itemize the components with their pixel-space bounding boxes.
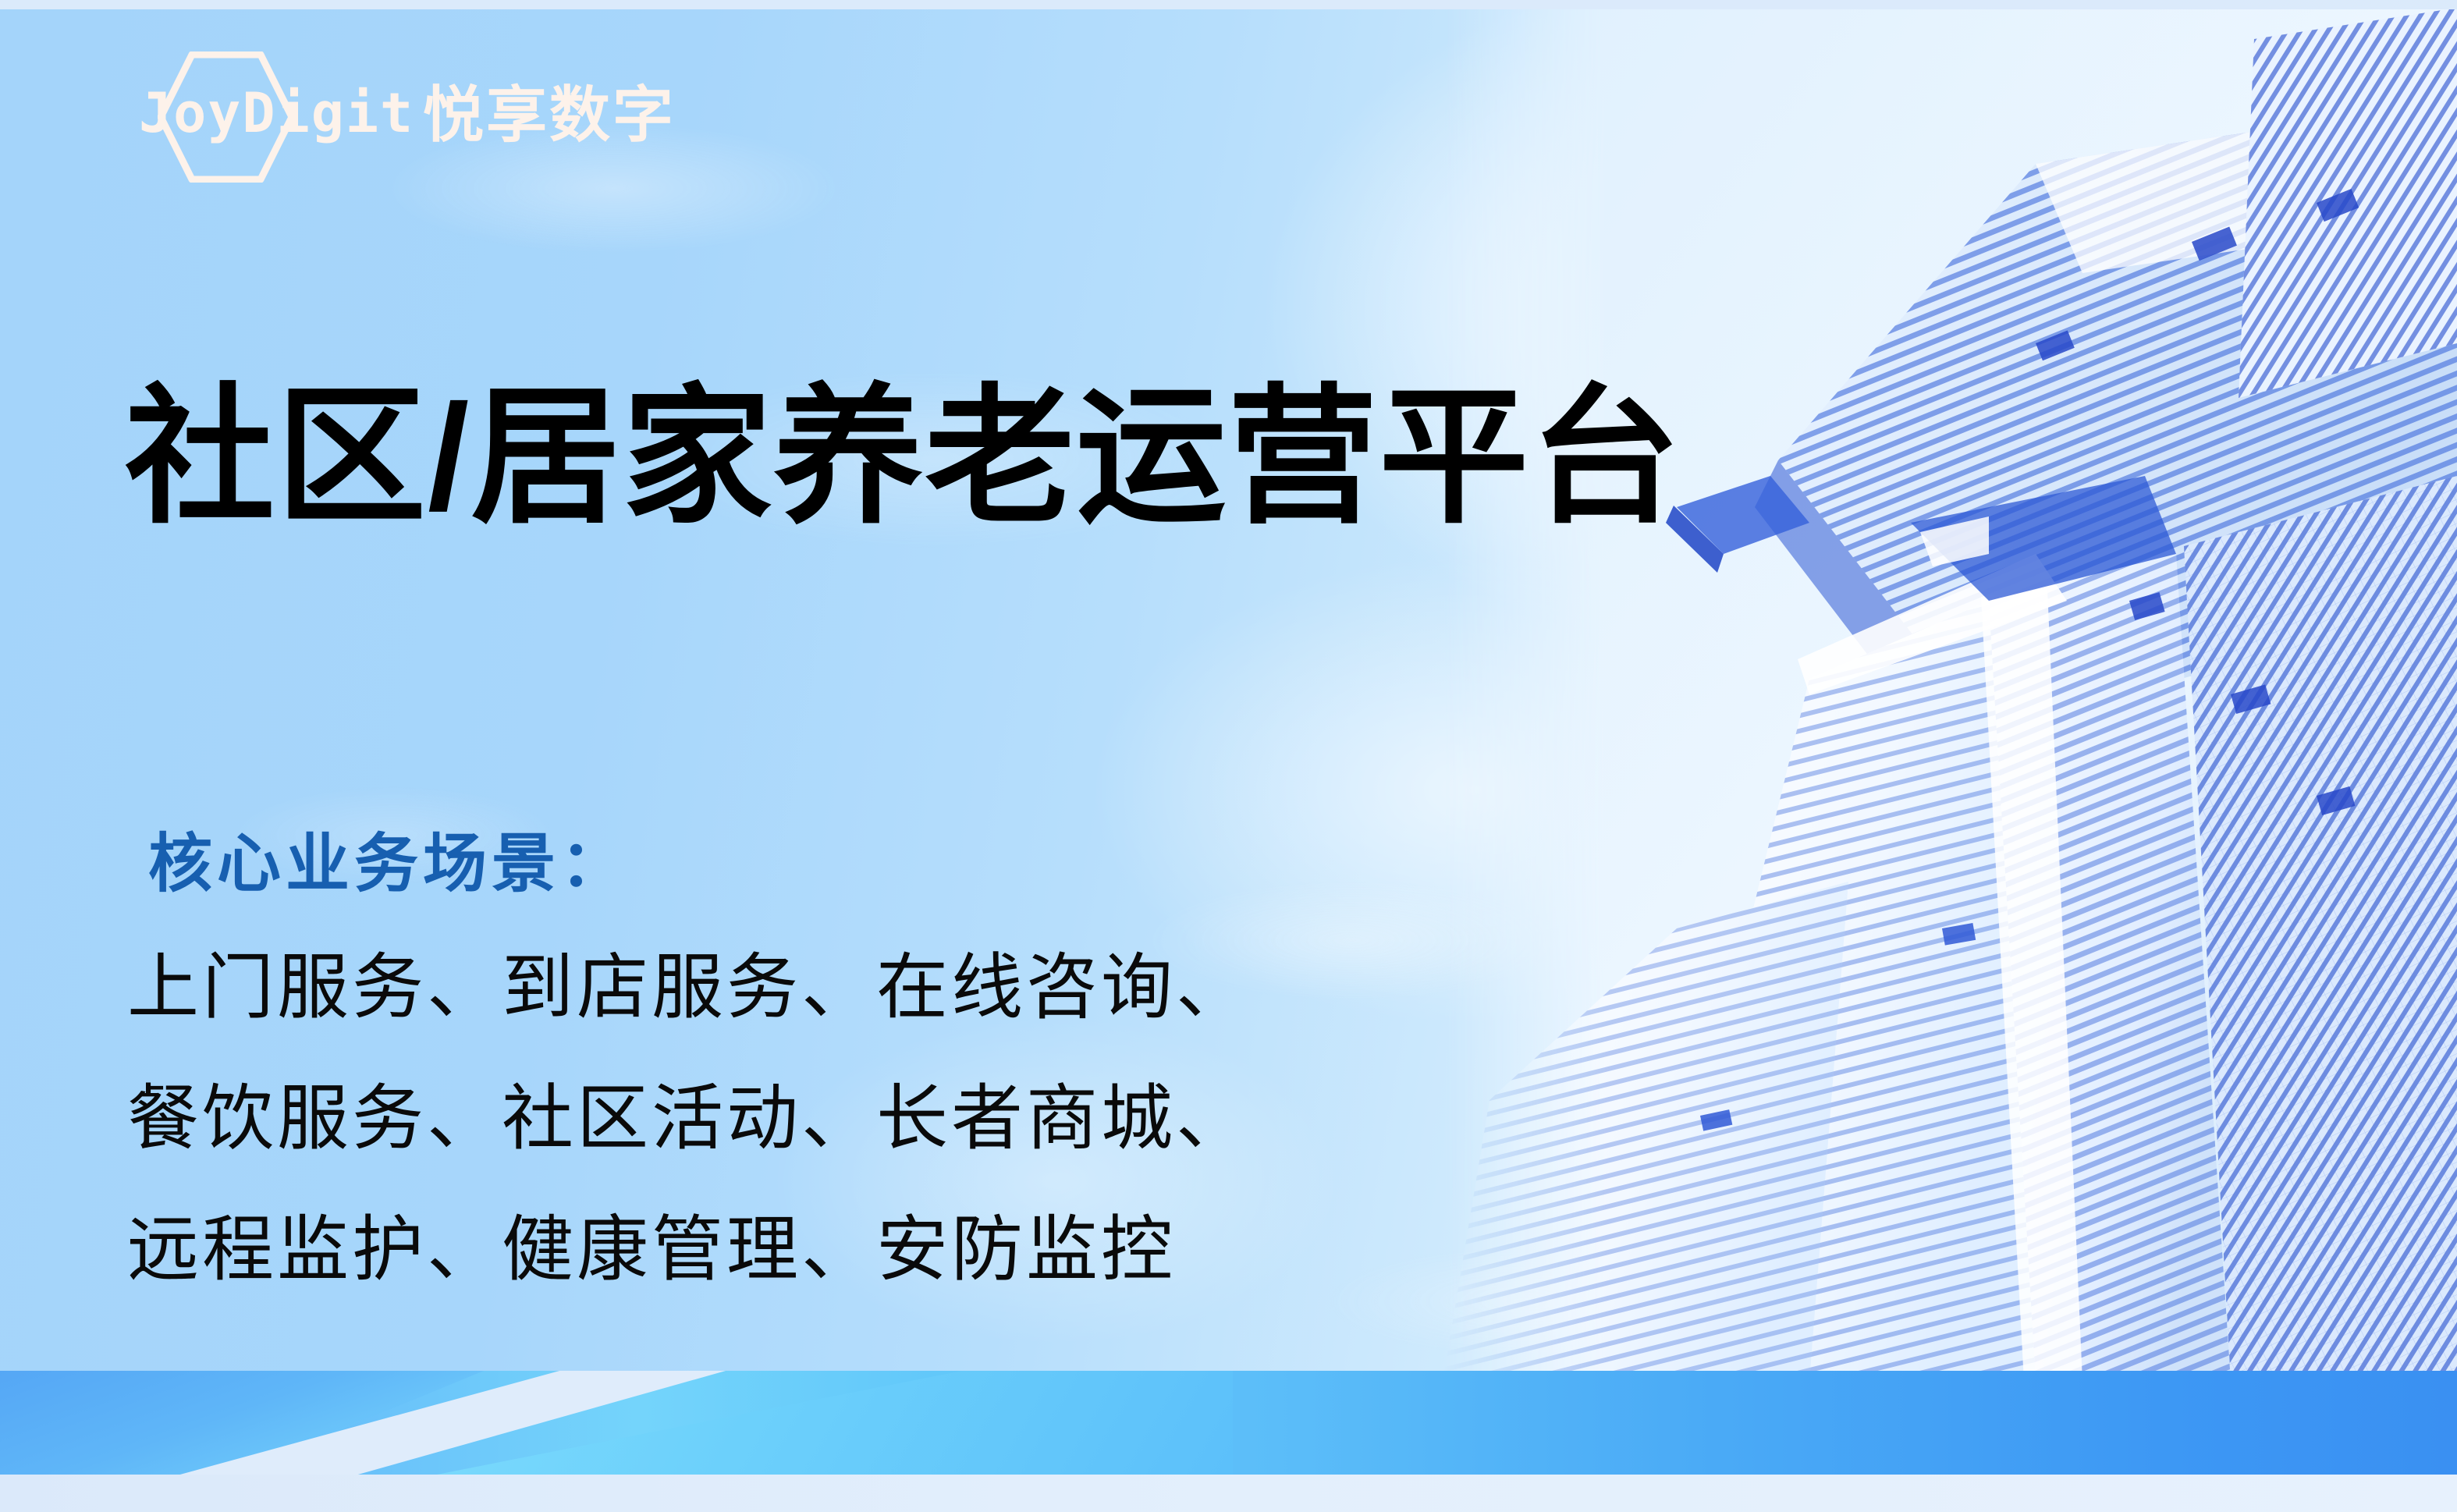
logo-wordmark: JoyDigit [139,84,414,142]
right-curtain-wall [2184,476,2457,1381]
building-illustration [1443,8,2457,1381]
page-title: 社区/居家养老运营平台 [125,375,1681,539]
scenario-line: 远程监护、健康管理、安防监控 [127,1184,1251,1315]
scenario-line: 餐饮服务、社区活动、长者商城、 [127,1053,1251,1184]
brand-logo: JoyDigit 悦享数字 [139,72,676,158]
bottom-footer-strip [0,1475,2457,1512]
logo-mark: JoyDigit [139,72,404,158]
scenario-line: 上门服务、到店服务、在线咨询、 [127,922,1251,1053]
logo-chinese-name: 悦享数字 [423,83,676,147]
top-edge-strip [0,0,2457,9]
section-heading: 核心业务场景： [148,827,629,902]
slide-canvas: JoyDigit 悦享数字 社区/居家养老运营平台 核心业务场景： 上门服务、到… [0,0,2457,1512]
skyscraper-photo [1443,8,2457,1381]
scenario-list: 上门服务、到店服务、在线咨询、 餐饮服务、社区活动、长者商城、 远程监护、健康管… [127,922,1251,1315]
